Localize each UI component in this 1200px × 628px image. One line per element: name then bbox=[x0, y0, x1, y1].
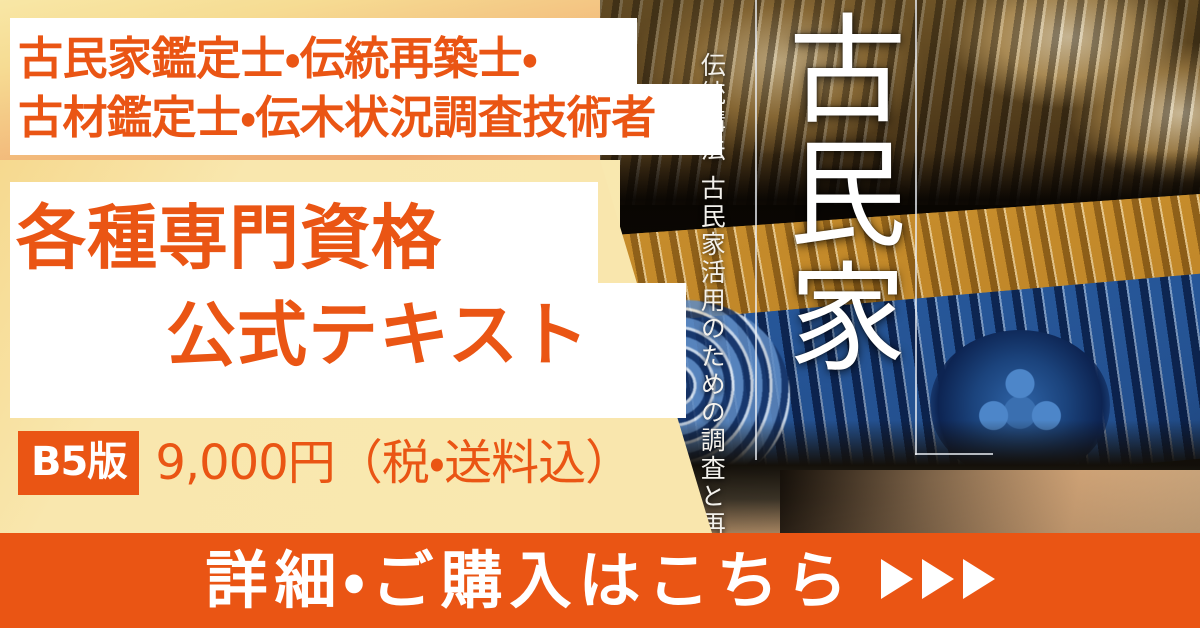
cover-rule-line-left bbox=[755, 0, 757, 460]
subheadline: 各種専門資格 公式テキスト bbox=[16, 190, 696, 383]
cta-arrow-group bbox=[881, 559, 995, 603]
cta-label: 詳細・ご購入はこちら bbox=[205, 550, 854, 612]
chevron-right-icon bbox=[881, 559, 913, 599]
chevron-right-icon bbox=[922, 559, 954, 599]
price-row: B5版 9,000円（税・送料込） bbox=[18, 431, 632, 495]
headline-line-1: 古民家鑑定士・伝統再築士・ bbox=[18, 30, 718, 89]
price-text: 9,000円（税・送料込） bbox=[155, 439, 632, 487]
headline-line-2: 古材鑑定士・伝木状況調査技術者 bbox=[18, 89, 718, 148]
cover-rule-line-bottom bbox=[915, 453, 993, 455]
subheadline-line-2: 公式テキスト bbox=[16, 287, 696, 384]
chevron-right-icon bbox=[963, 559, 995, 599]
cover-rule-line-right bbox=[915, 0, 917, 455]
subheadline-line-1: 各種専門資格 bbox=[16, 190, 696, 287]
size-badge: B5版 bbox=[18, 431, 139, 495]
cta-bar[interactable]: 詳細・ご購入はこちら bbox=[0, 533, 1200, 628]
promo-banner: 伝統構法 古民家活用のための調査と再生の 古民家 古民家鑑定士・伝統再築士・ 古… bbox=[0, 0, 1200, 628]
headline: 古民家鑑定士・伝統再築士・ 古材鑑定士・伝木状況調査技術者 bbox=[18, 30, 718, 147]
book-cover-title: 古民家 bbox=[778, 8, 906, 380]
